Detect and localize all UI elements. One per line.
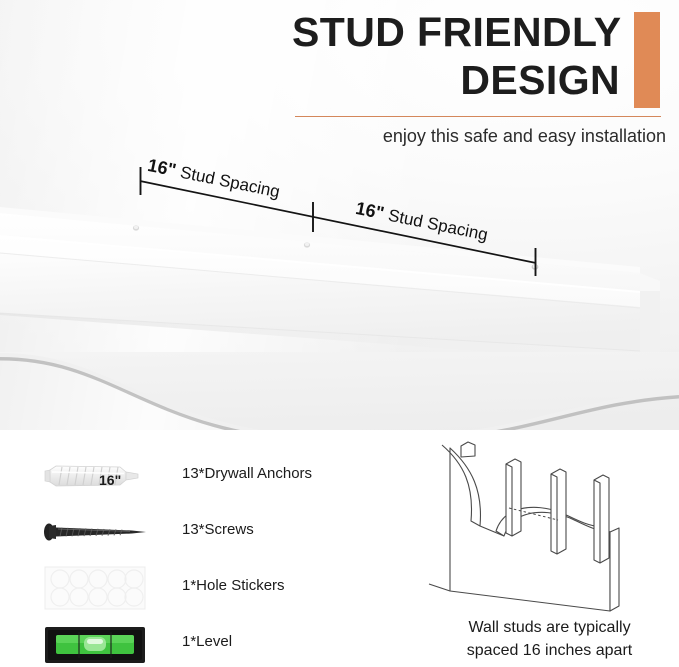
list-item: 13*Screws — [34, 504, 364, 560]
hole-sticker-sheet-icon — [34, 560, 164, 616]
caption-line-2: spaced 16 inches apart — [420, 639, 679, 662]
list-item-label: 13*Screws — [182, 521, 254, 538]
diagram-measure-label: 16" — [99, 472, 121, 488]
bubble-level-icon — [34, 616, 164, 667]
list-item-label: 13*Drywall Anchors — [182, 465, 312, 482]
stud-spacing-measure: 16" — [354, 198, 386, 223]
caption-line-1: Wall studs are typically — [420, 616, 679, 639]
title-line-2: DESIGN — [292, 56, 664, 104]
title-divider-rule — [295, 116, 661, 117]
list-item-label: 1*Level — [182, 633, 232, 650]
list-item-label: 1*Hole Stickers — [182, 577, 285, 594]
parts-list: 13*Drywall Anchors — [34, 448, 364, 667]
title-line-1: STUD FRIENDLY — [292, 8, 664, 56]
screw-icon — [34, 504, 164, 560]
list-item: 1*Hole Stickers — [34, 560, 364, 616]
accent-bar — [634, 12, 660, 108]
page-title: STUD FRIENDLY DESIGN — [292, 8, 664, 104]
list-item: 1*Level — [34, 616, 364, 667]
list-item: 13*Drywall Anchors — [34, 448, 364, 504]
stud-spacing-dimension-lines — [0, 140, 679, 290]
wall-studs-diagram — [420, 436, 679, 616]
product-infographic: 16" Stud Spacing 16" Stud Spacing STUD F… — [0, 0, 679, 667]
stud-spacing-measure: 16" — [146, 155, 178, 180]
diagram-caption: Wall studs are typically spaced 16 inche… — [420, 616, 679, 662]
subtitle: enjoy this safe and easy installation — [292, 124, 666, 148]
package-contents-section: 13*Drywall Anchors — [0, 430, 679, 667]
